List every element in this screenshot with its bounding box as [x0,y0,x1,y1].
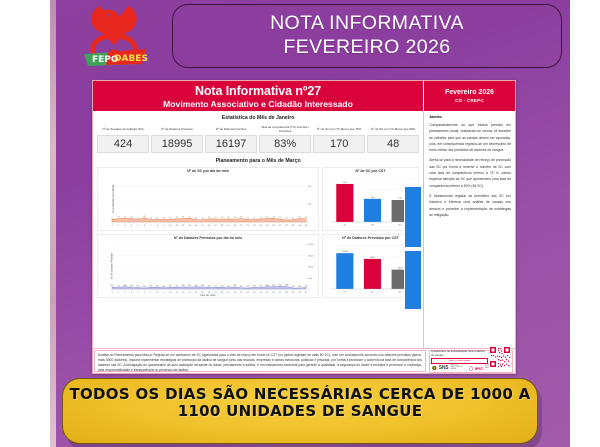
stat-label: Nº de SC com TC Menor que 50% [367,124,419,135]
stat-value: 16197 [205,135,257,153]
svg-text:12: 12 [202,217,204,219]
qr-caption-wrap: Questionário de autoavaliação para a dád… [431,350,489,363]
svg-text:200: 200 [308,186,312,188]
stat-label: Nº de Dadores Previstos [151,124,203,135]
svg-text:16: 16 [208,225,211,227]
stat-cell: Nº de Dadores Previstos 18995 [151,124,203,153]
svg-text:14: 14 [195,225,198,227]
svg-text:26: 26 [273,225,276,227]
svg-text:645: 645 [208,285,211,287]
document-left-column: Estatística do Mês de Janeiro Nº de Sess… [93,111,424,348]
banner-line2: 1100 UNIDADES DE SANGUE [69,403,530,420]
svg-text:838: 838 [182,285,185,287]
svg-text:16: 16 [221,217,223,219]
svg-text:14: 14 [150,217,152,219]
svg-text:11: 11 [176,225,179,227]
page-header: FEPO DABES NOTA INFORMATIVA FEVEREIRO 20… [56,0,570,72]
portugal-flag-icon [432,364,437,372]
stat-cell: Nº de SC com TC Menor que 75% 170 [313,124,365,153]
svg-text:10000: 10000 [342,251,349,253]
svg-text:SP: SP [343,291,346,293]
svg-text:5400: 5400 [398,267,404,269]
svg-text:13: 13 [188,225,191,227]
svg-text:3: 3 [124,225,126,227]
chart-title: Nº de SC por CST [323,169,418,173]
svg-text:19: 19 [266,216,268,218]
stat-cell: Nº de Dadores Inscritos 16197 [205,124,257,153]
svg-text:19: 19 [118,216,120,218]
svg-text:17: 17 [260,217,262,219]
svg-text:28: 28 [285,225,288,227]
document-dept: CD - CREPC [455,98,484,103]
svg-text:10: 10 [169,225,172,227]
chart-sc-por-dia: Nº de SC por dia do mês Nº de Sessões de… [97,167,319,231]
svg-text:17: 17 [214,225,217,227]
document-title: Nota Informativa nº27 [195,84,321,98]
svg-text:20: 20 [273,216,275,218]
charts-row-bottom: Nº de Dadores Previstos por dia do mês N… [97,234,419,298]
svg-text:6: 6 [144,225,146,227]
analysis-text: Análise do Planeamento para Março: Regis… [98,353,422,374]
stat-value: 48 [367,135,419,153]
svg-text:980: 980 [272,284,275,286]
svg-text:15000: 15000 [308,255,315,257]
chart-ylabel: Nº de Sessões de Colheita [112,184,115,213]
title-plate: NOTA INFORMATIVA FEVEREIRO 2026 [172,4,562,68]
svg-text:743: 743 [175,285,178,287]
month-label: Janeiro: [429,115,511,119]
svg-text:550: 550 [240,285,243,287]
svg-text:15: 15 [201,225,204,227]
svg-text:23: 23 [143,215,145,217]
banner-line1: TODOS OS DIAS SÃO NECESSÁRIAS CERCA DE 1… [69,386,530,403]
svg-text:31: 31 [305,225,308,227]
blood-drop-icon [469,364,473,372]
svg-text:SC: SC [399,291,402,293]
svg-text:SC: SC [399,224,402,226]
svg-text:2: 2 [118,225,120,227]
svg-text:0: 0 [308,222,310,224]
svg-text:9: 9 [163,225,165,227]
svg-text:680: 680 [130,285,133,287]
svg-text:781: 781 [169,285,172,287]
svg-text:670: 670 [259,285,262,287]
svg-text:960: 960 [195,284,198,286]
svg-text:SL: SL [371,291,374,293]
logo-text-right: DABES [114,54,148,64]
svg-text:5: 5 [137,225,139,227]
svg-text:19: 19 [240,216,242,218]
left-accent-stripe [50,0,56,447]
svg-text:13: 13 [253,217,255,219]
svg-text:17: 17 [279,217,281,219]
stat-label: Taxa de Comparência (TC) Inscritos / Pre… [259,124,311,135]
chart-canvas: 0100200131920201423141414151719211312171… [98,168,320,232]
svg-text:1: 1 [111,225,113,227]
svg-text:1080: 1080 [285,284,289,286]
stat-label: Nº de Sessões de Colheita (SC) [97,124,149,135]
svg-text:30: 30 [298,225,301,227]
chart-title: Nº de SC por dia do mês [98,169,318,173]
document-footer: Análise do Planeamento para Março: Regis… [93,348,515,373]
svg-text:863: 863 [233,285,236,287]
qr-button[interactable]: Toque e o código negativo [431,358,488,364]
svg-text:13: 13 [195,217,197,219]
stat-value: 424 [97,135,149,153]
stat-cell: Taxa de Comparência (TC) Inscritos / Pre… [259,124,311,153]
left-margin [0,0,56,447]
svg-text:723: 723 [117,285,120,287]
svg-text:743: 743 [253,285,256,287]
svg-text:18: 18 [305,216,307,218]
stat-value: 170 [313,135,365,153]
svg-text:650: 650 [136,285,139,287]
sidebar-bar-chart-tall [404,186,422,248]
svg-text:13: 13 [247,217,249,219]
sns-logo-text: SNS [439,365,449,371]
analysis-block: Análise do Planeamento para Março: Regis… [94,350,426,372]
document-right-column: Janeiro: Comparativamente ao que estava … [424,111,515,348]
svg-text:17: 17 [176,217,178,219]
svg-text:20: 20 [130,216,132,218]
svg-text:11: 11 [286,218,288,220]
stat-label: Nº de SC com TC Menor que 75% [313,124,365,135]
svg-text:17: 17 [227,217,229,219]
right-margin [570,0,600,447]
svg-text:1040: 1040 [265,284,269,286]
svg-text:790: 790 [156,285,159,287]
svg-text:140: 140 [371,196,375,198]
svg-text:17: 17 [215,217,217,219]
qr-code-icon[interactable] [489,346,511,368]
document-date-block: Fevereiro 2026 CD - CREPC [423,81,515,111]
svg-text:750: 750 [149,285,152,287]
chart-dadores-por-dia: Nº de Dadores Previstos por dia do mês N… [97,234,319,298]
stats-section-title: Estatística do Mês de Janeiro [97,115,419,121]
svg-text:710: 710 [305,285,308,287]
svg-text:21: 21 [189,216,191,218]
svg-text:444: 444 [143,286,146,288]
svg-text:24: 24 [260,225,263,227]
svg-text:22: 22 [247,225,250,227]
svg-text:560: 560 [227,285,230,287]
document-date: Fevereiro 2026 [445,89,494,96]
banner-text: TODOS OS DIAS SÃO NECESSÁRIAS CERCA DE 1… [69,386,530,421]
svg-text:19: 19 [299,216,301,218]
svg-text:19: 19 [182,216,184,218]
svg-text:100: 100 [308,204,312,206]
stats-table: Nº de Sessões de Colheita (SC) 424 Nº de… [97,124,419,153]
svg-text:440: 440 [298,286,301,288]
svg-text:775: 775 [214,285,217,287]
document-header: Nota Informativa nº27 Movimento Associat… [93,81,515,111]
svg-text:27: 27 [279,225,282,227]
stat-label: Nº de Dadores Inscritos [205,124,257,135]
svg-text:410: 410 [292,286,295,288]
svg-text:14: 14 [156,217,158,219]
chart-xlabel: Dia do mês [98,293,318,297]
svg-text:4: 4 [131,225,133,227]
document-title-block: Nota Informativa nº27 Movimento Associat… [93,81,423,111]
svg-text:8400: 8400 [370,256,376,258]
footer-right: Questionário de autoavaliação para a dád… [427,349,515,373]
svg-text:15: 15 [169,217,171,219]
charts-grid: Nº de SC por dia do mês Nº de Sessões de… [97,167,419,298]
header-title-line1: NOTA INFORMATIVA [270,12,464,36]
svg-text:10000: 10000 [308,266,315,268]
svg-text:750: 750 [221,285,224,287]
svg-text:21: 21 [240,225,243,227]
sns-logo-subtext: SERVIÇO NACIONAL DE SAÚDE [450,365,466,371]
svg-text:0: 0 [308,289,310,291]
svg-text:5000: 5000 [308,277,314,279]
qr-caption: Questionário de autoavaliação para a dád… [431,350,488,357]
svg-text:420: 420 [246,286,249,288]
svg-text:20000: 20000 [308,244,315,246]
chart-ylabel: Nº de Dadores Previstos [111,252,114,278]
svg-text:133: 133 [398,198,402,200]
svg-text:14: 14 [163,217,165,219]
right-paragraph-1: Comparativamente ao que estava previsto … [429,122,511,153]
chart-canvas: 0500010000150002000087172310406806504447… [98,235,320,299]
chart-title: Nº de Dadores Previstos por dia do mês [98,236,318,240]
svg-text:SL: SL [343,224,346,226]
svg-text:14: 14 [137,217,139,219]
svg-text:19: 19 [227,225,230,227]
right-paragraph-2: Alerta-se para a necessidade de reforço … [429,157,511,188]
svg-text:29: 29 [292,225,295,227]
svg-text:25: 25 [266,225,269,227]
svg-text:12: 12 [182,225,185,227]
svg-text:1040: 1040 [123,284,127,286]
svg-text:18: 18 [221,225,224,227]
svg-text:16: 16 [234,217,236,219]
svg-text:830: 830 [188,285,191,287]
stat-cell: Nº de Sessões de Colheita (SC) 424 [97,124,149,153]
svg-text:20: 20 [124,216,126,218]
plan-section-title: Planeamento para o Mês de Março [97,158,419,164]
call-to-action-banner: TODOS OS DIAS SÃO NECESSÁRIAS CERCA DE 1… [62,378,538,444]
svg-text:871: 871 [111,285,114,287]
svg-text:8: 8 [157,225,159,227]
svg-text:SP: SP [371,224,374,226]
fepodabes-logo: FEPO DABES [68,2,160,70]
svg-text:230: 230 [343,181,347,183]
document-subtitle: Movimento Associativo e Cidadão Interess… [163,99,353,109]
header-title-line2: FEVEREIRO 2026 [270,36,464,60]
qr-block[interactable]: Questionário de autoavaliação para a dád… [429,350,513,364]
right-paragraph-3: É fundamental registar as previsões das … [429,193,511,218]
stat-value: 83% [259,135,311,153]
header-title: NOTA INFORMATIVA FEVEREIRO 2026 [270,12,464,60]
svg-text:23: 23 [253,225,256,227]
svg-text:13: 13 [292,217,294,219]
svg-text:20: 20 [234,225,237,227]
svg-text:901: 901 [201,285,204,287]
svg-text:13: 13 [111,217,113,219]
svg-text:7: 7 [150,225,152,227]
sidebar-bar-chart-tall-2 [404,250,422,310]
svg-text:17: 17 [208,217,210,219]
svg-text:1120: 1120 [278,284,282,286]
newsletter-document: Nota Informativa nº27 Movimento Associat… [92,80,516,374]
ipst-logo-text: IPST [475,366,483,371]
svg-text:540: 540 [162,285,165,287]
document-body: Estatística do Mês de Janeiro Nº de Sess… [93,111,515,348]
stat-cell: Nº de SC com TC Menor que 50% 48 [367,124,419,153]
charts-row-top: Nº de SC por dia do mês Nº de Sessões de… [97,167,419,231]
stat-value: 18995 [151,135,203,153]
